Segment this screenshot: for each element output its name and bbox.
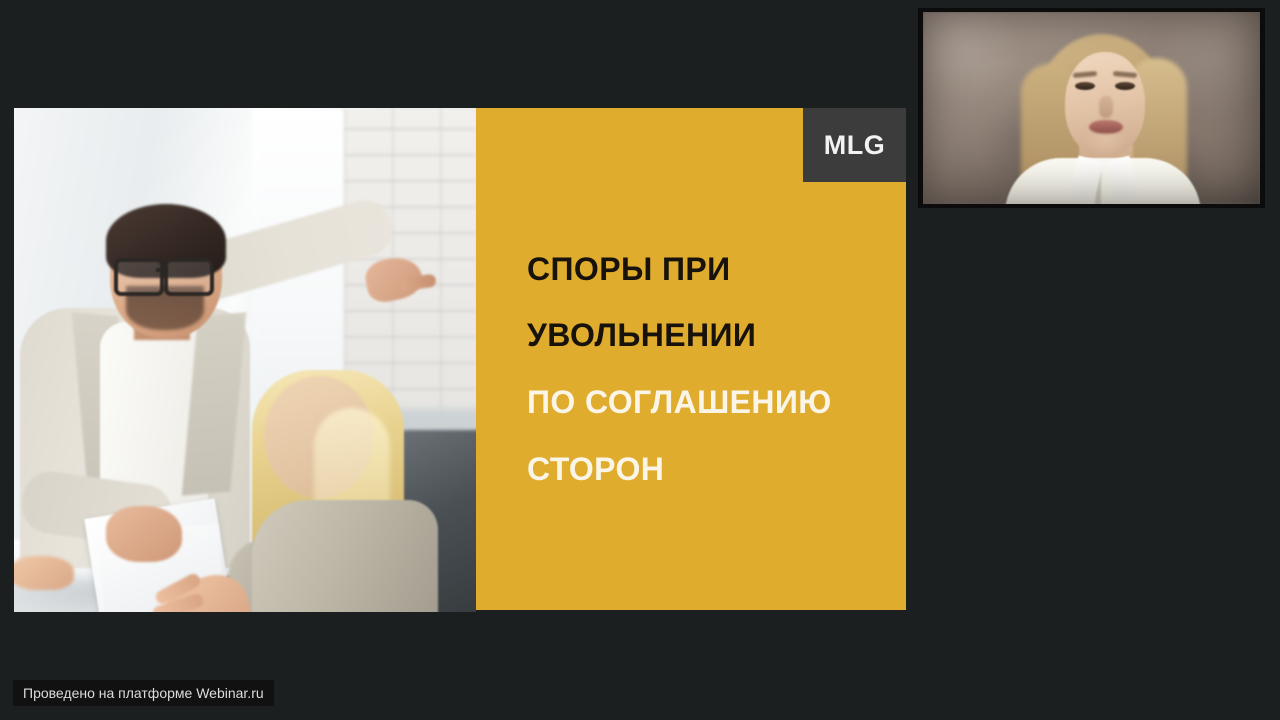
slide-title-line-1: СПОРЫ ПРИ xyxy=(527,253,731,285)
platform-note-badge: Проведено на платформе Webinar.ru xyxy=(13,680,274,706)
photo-man-glasses-bridge xyxy=(156,268,168,272)
slide-title-line-3: ПО СОГЛАШЕНИЮ xyxy=(527,386,832,418)
slide-title-line-4: СТОРОН xyxy=(527,453,664,485)
webcam-vignette xyxy=(923,12,1260,204)
photo-man-hand-holding-papers xyxy=(106,506,182,562)
presenter-video-feed[interactable] xyxy=(923,12,1260,204)
mlg-logo-label: MLG xyxy=(824,130,886,161)
photo-colleague-hand xyxy=(14,556,74,590)
presenter-webcam-overlay[interactable] xyxy=(918,8,1265,208)
slide-title-line-2: УВОЛЬНЕНИИ xyxy=(527,319,756,351)
slide-photo xyxy=(14,108,476,612)
webinar-player: СПОРЫ ПРИ УВОЛЬНЕНИИ ПО СОГЛАШЕНИЮ СТОРО… xyxy=(0,0,1280,720)
mlg-logo-badge: MLG xyxy=(803,108,906,182)
slide-title-panel: СПОРЫ ПРИ УВОЛЬНЕНИИ ПО СОГЛАШЕНИЮ СТОРО… xyxy=(476,108,906,610)
slide-area: СПОРЫ ПРИ УВОЛЬНЕНИИ ПО СОГЛАШЕНИЮ СТОРО… xyxy=(0,0,1280,672)
photo-woman-blazer xyxy=(252,500,438,612)
photo-man-glasses-left-lens xyxy=(114,258,164,296)
platform-note-label: Проведено на платформе Webinar.ru xyxy=(23,685,264,701)
photo-man-glasses-right-lens xyxy=(164,258,214,296)
